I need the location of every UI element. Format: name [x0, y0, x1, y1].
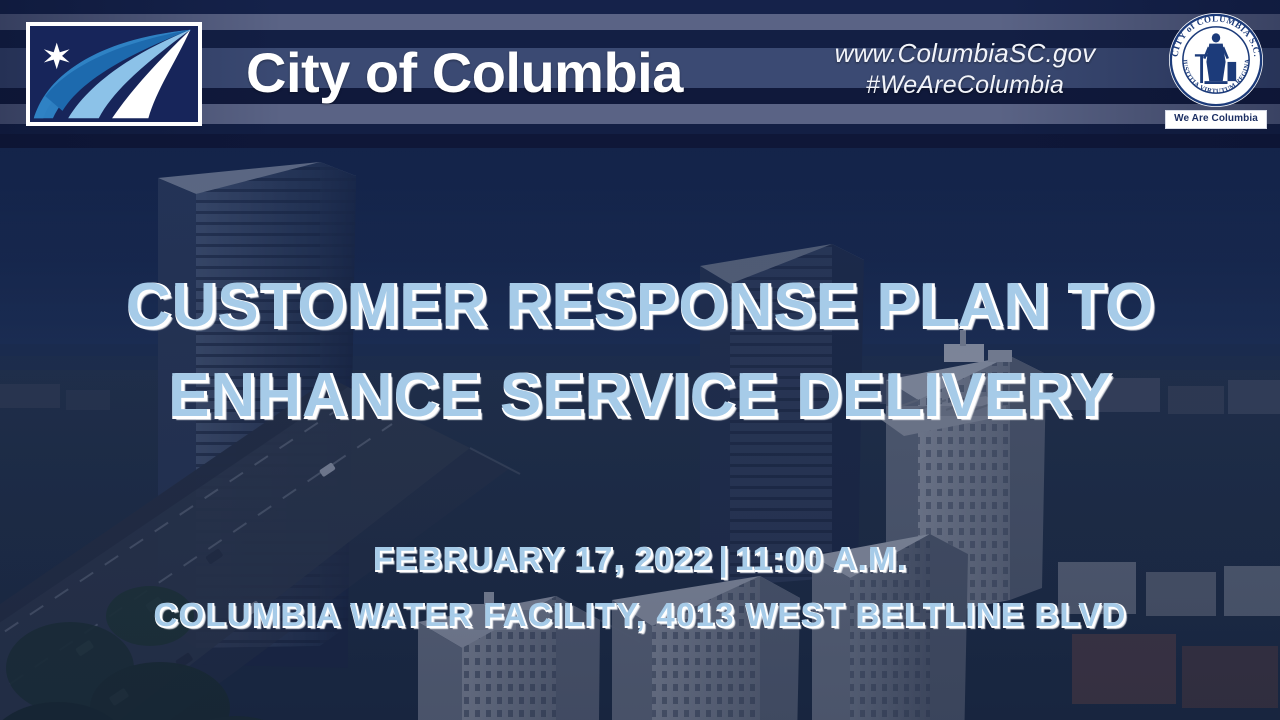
background-photo	[0, 148, 1280, 720]
city-seal-block: CITY of COLUMBIA S.C. JUSTITIA VIRTUTUM …	[1160, 12, 1272, 129]
page-title: City of Columbia	[246, 34, 683, 110]
website-url[interactable]: www.ColumbiaSC.gov	[800, 38, 1130, 70]
header-banner: City of Columbia www.ColumbiaSC.gov #WeA…	[0, 0, 1280, 148]
city-seal-icon: CITY of COLUMBIA S.C. JUSTITIA VIRTUTUM …	[1168, 12, 1264, 108]
slide-canvas: City of Columbia www.ColumbiaSC.gov #WeA…	[0, 0, 1280, 720]
seal-banner-label: We Are Columbia	[1165, 110, 1267, 129]
columbia-flag-logo-icon	[26, 22, 202, 126]
website-block: www.ColumbiaSC.gov #WeAreColumbia	[800, 38, 1130, 100]
hashtag-label: #WeAreColumbia	[800, 70, 1130, 101]
